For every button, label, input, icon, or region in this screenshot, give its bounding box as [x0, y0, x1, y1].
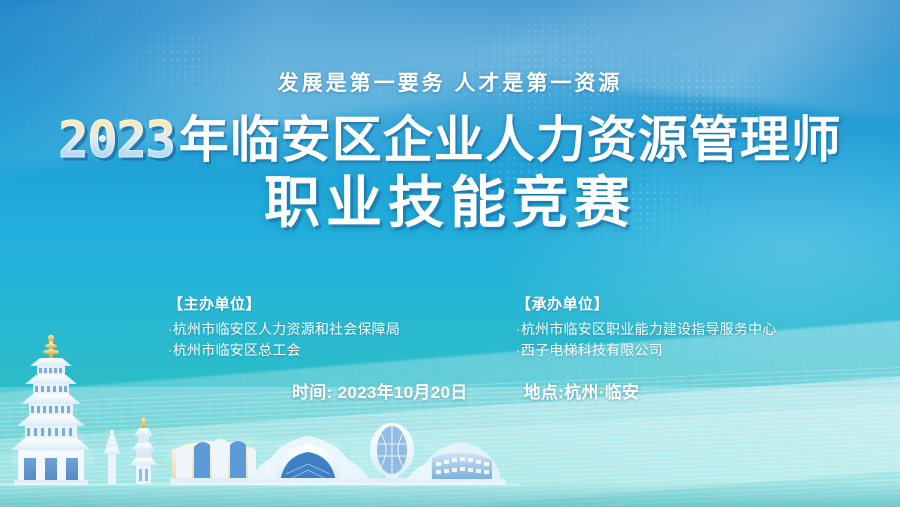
poster-subtitle: 发展是第一要务 人才是第一资源: [0, 67, 900, 97]
organizer-section: 【主办单位】 ·杭州市临安区人力资源和社会保障局 ·杭州市临安区总工会 【承办单…: [0, 293, 900, 361]
host-organizer-item: ·杭州市临安区人力资源和社会保障局: [168, 319, 430, 340]
poster-canvas: 发展是第一要务 人才是第一资源 2023年临安区企业人力资源管理师 职业技能竞赛…: [0, 0, 900, 507]
poster-title-line-1: 2023年临安区企业人力资源管理师: [0, 112, 900, 168]
co-organizer-item: ·西子电梯科技有限公司: [516, 340, 778, 361]
poster-title-line-1-text: 年临安区企业人力资源管理师: [179, 112, 842, 168]
poster-content: 发展是第一要务 人才是第一资源 2023年临安区企业人力资源管理师 职业技能竞赛…: [0, 0, 900, 507]
co-organizer-heading: 【承办单位】: [516, 293, 778, 314]
co-organizer-item: ·杭州市临安区职业能力建设指导服务中心: [516, 319, 778, 340]
poster-title-line-2: 职业技能竞赛: [0, 172, 900, 234]
event-time: 时间: 2023年10月20日: [292, 378, 468, 403]
co-organizer-column: 【承办单位】 ·杭州市临安区职业能力建设指导服务中心 ·西子电梯科技有限公司: [516, 293, 778, 361]
host-organizer-column: 【主办单位】 ·杭州市临安区人力资源和社会保障局 ·杭州市临安区总工会: [168, 293, 430, 361]
poster-title-year: 2023: [58, 111, 178, 169]
event-place: 地点:杭州·临安: [524, 378, 640, 403]
event-meta: 时间: 2023年10月20日 地点:杭州·临安: [0, 378, 900, 403]
host-organizer-item: ·杭州市临安区总工会: [168, 340, 430, 361]
host-organizer-heading: 【主办单位】: [168, 293, 430, 314]
